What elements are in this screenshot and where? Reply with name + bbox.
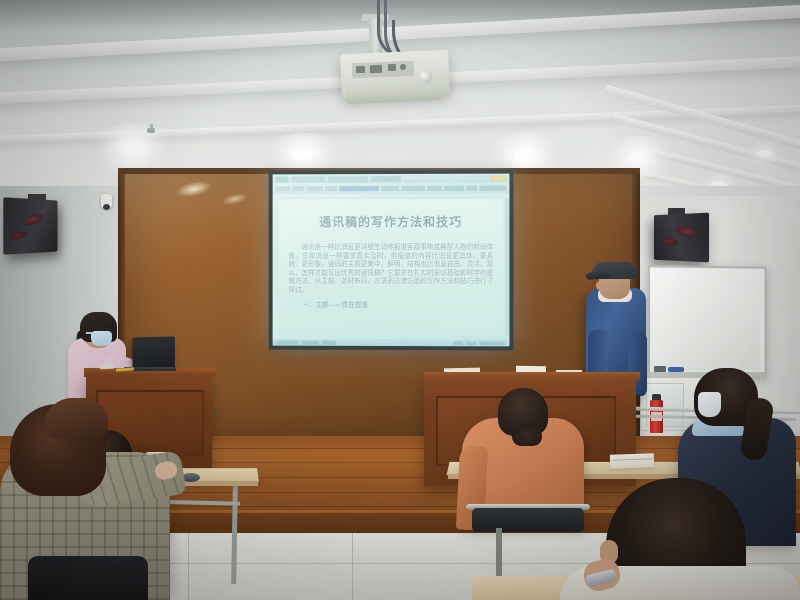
- ribbon-menu-item[interactable]: [479, 186, 507, 191]
- projector-port: [356, 66, 365, 73]
- attendee-plaid-hair-top: [44, 398, 108, 438]
- ceiling-downlight: [513, 150, 535, 160]
- view-mode-button[interactable]: [453, 341, 463, 345]
- document-title: 通讯稿的写作方法和技巧: [279, 213, 504, 230]
- ribbon-menu-item[interactable]: [466, 186, 477, 191]
- ceiling-downlight: [757, 150, 772, 157]
- ceiling-downlight: [292, 150, 314, 160]
- ribbon-menu-item[interactable]: [444, 186, 464, 191]
- sprinkler-head-icon: [147, 128, 155, 133]
- classroom-scene: 通讯稿的写作方法和技巧 通讯是一种比消息更详细生动地报道客观事物或典型人物的新闻…: [0, 0, 800, 600]
- projector-port: [370, 65, 382, 74]
- whiteboard-marker[interactable]: [668, 367, 684, 372]
- document-subtitle: 一、主题——贵在提炼: [302, 298, 503, 308]
- projection-screen[interactable]: 通讯稿的写作方法和技巧 通讯是一种比消息更详细生动地报道客观事物或典型人物的新闻…: [269, 170, 514, 351]
- document-scrollbar[interactable]: [505, 199, 509, 337]
- chair-seat[interactable]: [28, 556, 148, 600]
- document-tab[interactable]: [371, 175, 401, 181]
- ceiling-downlight: [120, 142, 144, 153]
- status-language: [322, 340, 336, 344]
- ribbon-menu-item[interactable]: [401, 186, 425, 191]
- document-page: 通讯稿的写作方法和技巧 通讯是一种比消息更详细生动地报道客观事物或典型人物的新闻…: [279, 199, 504, 337]
- ribbon-menu-item[interactable]: [276, 186, 290, 191]
- chair-back[interactable]: [472, 508, 584, 532]
- projection-surface: 通讯稿的写作方法和技巧 通讯是一种比消息更详细生动地报道客观事物或典型人物的新闻…: [273, 174, 510, 347]
- projector-port: [388, 64, 396, 71]
- status-word-count: [301, 340, 319, 344]
- face-mask-icon: [91, 331, 112, 346]
- camera-lens-icon: [103, 204, 110, 210]
- face-mask-strap: [86, 332, 93, 334]
- ribbon-menu-item[interactable]: [381, 186, 399, 191]
- ribbon-menu-item[interactable]: [292, 186, 305, 191]
- save-button[interactable]: [489, 175, 506, 181]
- ribbon-menu-item[interactable]: [427, 186, 442, 191]
- ribbon-menu-item[interactable]: [325, 186, 337, 191]
- ceiling-downlight: [629, 152, 649, 162]
- status-page-count: [277, 340, 299, 344]
- zoom-slider[interactable]: [479, 341, 505, 345]
- laptop-screen[interactable]: [133, 336, 175, 370]
- attendee-orange-ponytail: [512, 424, 542, 446]
- whiteboard-eraser[interactable]: [654, 366, 666, 372]
- app-ribbon-toolbar: [273, 183, 510, 195]
- document-tab[interactable]: [328, 176, 368, 182]
- ribbon-font-selector[interactable]: [339, 186, 379, 191]
- app-status-bar: [273, 339, 510, 347]
- presenter-ear: [596, 281, 603, 290]
- notebook[interactable]: [610, 453, 654, 469]
- view-mode-button[interactable]: [466, 341, 476, 345]
- face-mask-icon: [698, 392, 721, 417]
- whiteboard-surface[interactable]: [651, 268, 760, 371]
- wps-logo-icon: [276, 176, 289, 182]
- document-body-text: 通讯是一种比消息更详细生动地报道客观事物或典型人物的新闻体裁。它和消息一样要求真…: [288, 243, 493, 295]
- podium-paper: [100, 364, 114, 370]
- speaker-left: [3, 197, 57, 254]
- ribbon-menu-item[interactable]: [307, 186, 323, 191]
- document-tab[interactable]: [291, 176, 325, 182]
